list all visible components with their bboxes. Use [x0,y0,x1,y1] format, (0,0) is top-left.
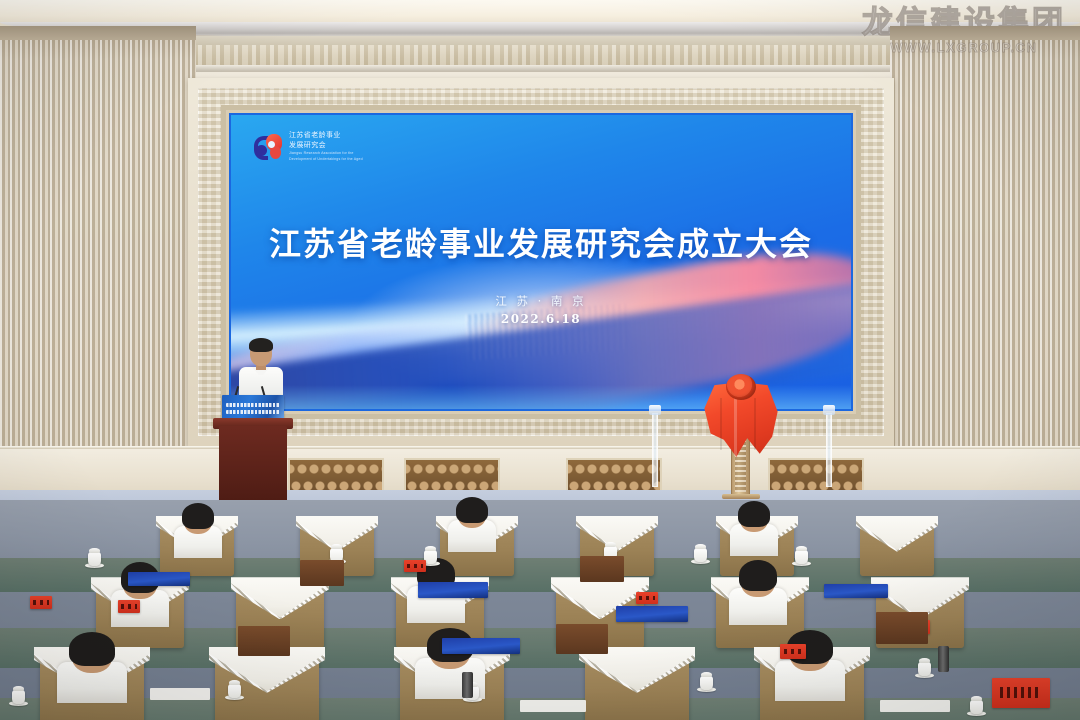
plaque-foot [722,494,760,499]
event-date: 2022.6.18 [231,312,851,326]
person-hair [456,497,489,523]
podium [213,390,293,510]
wall-lattice-grille [404,458,500,492]
name-placard [30,596,52,609]
person-hair [182,503,215,529]
placard-name-text [121,604,137,609]
logo-name-cn-line2: 发展研究会 [289,141,363,150]
side-table [238,626,290,656]
curtain-rod-left [0,26,196,40]
side-table [300,560,344,586]
curtain-left [0,26,196,506]
teacup-with-lid [12,690,25,704]
podium-sign-line2 [226,410,280,414]
teacup-with-lid [228,684,241,698]
red-rosette-icon [726,374,756,400]
placard-name-text [1000,687,1042,698]
curtain-right [890,26,1080,506]
side-table [580,556,624,582]
placard-name-text [407,564,423,568]
teacup-with-lid [694,548,707,562]
audience-person [786,630,834,688]
dado-trim-line [0,446,1080,449]
blue-document-folder [616,606,688,622]
name-placard [992,678,1050,708]
acrylic-stanchion [823,405,835,487]
logo-name-cn-line1: 江苏省老龄事业 [289,131,363,140]
audience-person [737,501,771,546]
unveiling-plaque [698,370,784,500]
audience-person [455,497,489,542]
document-paper [150,688,210,700]
wall-lattice-grille [288,458,384,492]
name-placard [404,560,426,572]
name-placard [780,644,806,659]
logo-name-en-line2: Development of Undertakings for the Aged [289,157,363,162]
logo-text: 江苏省老龄事业 发展研究会 Jiangsu Research Associati… [289,131,363,162]
blue-document-folder [824,584,888,598]
blue-document-folder [128,572,190,586]
conference-hall-photo: 江苏省老龄事业 发展研究会 Jiangsu Research Associati… [0,0,1080,720]
wall-lattice-grille [566,458,662,492]
audience-person [68,632,116,690]
name-placard [636,592,658,604]
logo-name-en-line1: Jiangsu Research Association for the [289,151,363,156]
teacup-with-lid [795,550,808,564]
document-paper [520,700,586,712]
logo-mark-icon [253,132,283,162]
placard-name-text [639,596,655,600]
event-title: 江苏省老龄事业发展研究会成立大会 [231,219,851,265]
person-hair [738,501,771,527]
audience-person [181,503,215,548]
podium-sign-line1 [226,403,280,407]
thermos-flask [462,672,473,698]
event-location: 江 苏 · 南 京 [231,293,851,309]
blue-document-folder [418,582,488,598]
audience-chair [585,650,689,720]
teacup-with-lid [970,700,983,714]
teacup-with-lid [700,676,713,690]
association-logo: 江苏省老龄事业 发展研究会 Jiangsu Research Associati… [253,131,363,162]
placard-name-text [784,649,803,654]
name-placard [118,600,140,613]
document-paper [880,700,950,712]
placard-name-text [33,600,49,605]
thermos-flask [938,646,949,672]
teacup-with-lid [918,662,931,676]
curtain-rod-right [890,26,1080,40]
audience-chair [860,518,934,576]
person-hair [739,560,777,591]
audience-person [738,560,778,613]
person-hair [69,632,115,666]
teacup-with-lid [88,552,101,566]
acrylic-stanchion [649,405,661,487]
side-table [556,624,608,654]
led-screen: 江苏省老龄事业 发展研究会 Jiangsu Research Associati… [231,115,851,409]
blue-document-folder [442,638,520,654]
side-table [876,612,928,644]
